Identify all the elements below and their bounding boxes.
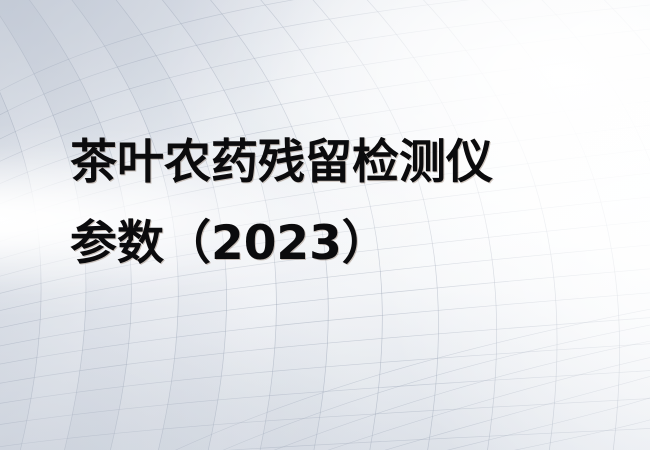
page-title-line-1: 茶叶农药残留检测仪: [70, 122, 493, 203]
poster-canvas: 茶叶农药残留检测仪 参数（2023）: [0, 0, 650, 450]
page-title: 茶叶农药残留检测仪 参数（2023）: [70, 122, 493, 284]
page-title-line-2: 参数（2023）: [70, 203, 493, 284]
